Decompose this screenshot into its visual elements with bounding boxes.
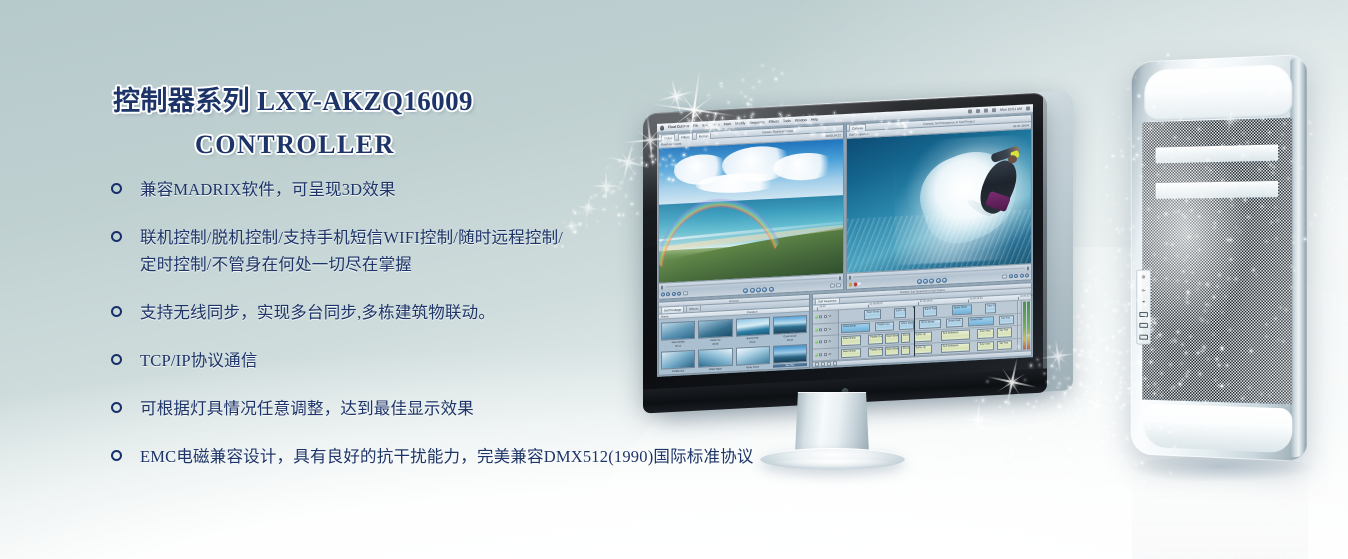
- timeline-clip[interactable]: Sky Pan: [999, 315, 1014, 325]
- sparkle-dot: [936, 544, 938, 546]
- volume-icon[interactable]: [992, 108, 996, 112]
- sparkle-dot: [1098, 440, 1099, 441]
- viewer-timecode[interactable]: 00:00:14:12: [825, 133, 841, 138]
- track-lanes[interactable]: Wave BreakSurfer UpBarrel RideSpray Clos…: [839, 301, 1021, 361]
- sparkle-dot: [1013, 415, 1015, 417]
- track-layout-button[interactable]: [821, 362, 825, 366]
- list-item[interactable]: Surfer Up00:09: [698, 319, 732, 347]
- sparkle-dot: [1104, 338, 1106, 340]
- sparkle-dot: [1007, 502, 1009, 504]
- sparkle-dot: [1120, 381, 1121, 382]
- sparkle-dot: [1102, 441, 1104, 443]
- bluetooth-icon[interactable]: [968, 109, 972, 113]
- scrubber-handle[interactable]: [1027, 266, 1029, 270]
- timeline-clip[interactable]: Shore Break: [919, 318, 941, 329]
- browser-clip-grid[interactable]: Wave Break00:12Surfer Up00:09Barrel Ride…: [659, 312, 809, 375]
- ruler-tick: [868, 305, 869, 308]
- sparkle-dot: [1094, 439, 1095, 440]
- firewire-port-icon[interactable]: [1139, 323, 1148, 328]
- canvas-timecode[interactable]: 01:01:18:04: [1013, 123, 1029, 128]
- sparkle-dot: [1113, 113, 1114, 114]
- sparkle-dot: [1088, 402, 1089, 403]
- canvas-extra-controls[interactable]: [1002, 273, 1029, 278]
- sparkle-dot: [1115, 284, 1116, 285]
- product-banner: 控制器系列 LXY-AKZQ16009 CONTROLLER 兼容MADRIX软…: [0, 0, 1348, 559]
- sparkle-dot: [1013, 496, 1014, 497]
- timeline-clip[interactable]: Sunset Surf: [968, 316, 993, 327]
- headphone-icon: ⌖: [1142, 300, 1145, 306]
- menubar-clock[interactable]: Mon 10:51 AM: [1000, 107, 1022, 112]
- browser-window[interactable]: Browser Surf Footage Effects Name Durati…: [658, 294, 810, 376]
- timeline-clip[interactable]: Wave Break: [864, 309, 880, 319]
- timeline-clip[interactable]: Barrel Ride: [923, 306, 938, 316]
- linked-selection-button[interactable]: [827, 362, 831, 366]
- menu-item-modify[interactable]: Modify: [735, 121, 745, 126]
- sparkle-dot: [1110, 378, 1112, 380]
- sparkle-dot: [976, 462, 977, 463]
- previous-edit-icon[interactable]: [743, 288, 748, 293]
- replace-edit-icon[interactable]: [858, 283, 861, 286]
- transport-controls[interactable]: [743, 286, 774, 293]
- sparkle-dot: [1114, 309, 1115, 310]
- tower-bottom-handle: [1144, 404, 1292, 454]
- sparkle-dot: [953, 547, 955, 549]
- sparkle-glint: [957, 399, 1000, 442]
- clip-thumbnail[interactable]: [661, 350, 695, 370]
- track-header-column[interactable]: V2V1A1A2: [813, 310, 839, 361]
- track-auto-select-icon[interactable]: [824, 352, 827, 356]
- sparkle-dot: [1122, 156, 1123, 157]
- sparkle-dot: [1096, 360, 1098, 362]
- timeline-clip[interactable]: Wave Break: [885, 333, 900, 343]
- next-edit-icon[interactable]: [942, 277, 947, 282]
- sparkle-dot: [969, 460, 971, 462]
- sparkle-dot: [1107, 363, 1108, 364]
- timeline-clip[interactable]: Tube View: [985, 303, 996, 313]
- tower-side-edge: [1290, 58, 1306, 458]
- timeline-clip[interactable]: Wave Break: [885, 346, 900, 356]
- apple-logo-icon[interactable]: [660, 125, 664, 130]
- timeline-clip[interactable]: Tube View: [977, 341, 993, 351]
- sparkle-dot: [1030, 471, 1032, 473]
- sparkle-dot: [1036, 440, 1038, 442]
- sparkle-dot: [1101, 340, 1102, 341]
- sparkle-dot: [984, 485, 985, 486]
- play-icon[interactable]: [672, 292, 676, 296]
- sparkle-dot: [1126, 435, 1127, 436]
- clip-thumbnail[interactable]: [773, 344, 807, 364]
- timeline-clip[interactable]: Surfer Up: [914, 331, 932, 341]
- mark-clip-icon[interactable]: [1025, 273, 1029, 277]
- sparkle-dot: [995, 548, 996, 549]
- sparkle-dot: [1090, 498, 1091, 499]
- track-auto-select-icon[interactable]: [824, 327, 827, 331]
- sparkle-dot: [1119, 352, 1121, 354]
- sparkle-dot: [1034, 511, 1036, 513]
- sparkle-dot: [1108, 432, 1109, 433]
- column-header-name[interactable]: Name: [661, 314, 668, 318]
- track-lock-icon[interactable]: [819, 353, 822, 357]
- list-item[interactable]: Barrel Ride00:21: [736, 317, 770, 345]
- timemachine-icon[interactable]: [976, 109, 980, 113]
- sparkle-dot: [1080, 382, 1081, 383]
- sparkle-dot: [1106, 347, 1108, 349]
- aerial-coast-with-rainbow-image: [659, 139, 843, 283]
- edit-mode-indicators[interactable]: [849, 283, 861, 287]
- sparkle-dot: [1103, 478, 1104, 479]
- sparkle-dot: [1092, 350, 1093, 351]
- sparkle-dot: [978, 438, 980, 440]
- sparkle-dot: [1000, 474, 1002, 476]
- tower-top-handle: [1144, 64, 1292, 122]
- tower-front-port-panel[interactable]: ✲ ⟜ ⌖: [1137, 270, 1151, 345]
- sparkle-dot: [1063, 460, 1065, 462]
- play-in-to-out-icon[interactable]: [923, 278, 928, 283]
- viewer-row: Video Filters Motion Viewer: Rainbow Coa…: [657, 113, 1033, 301]
- sparkle-dot: [1114, 423, 1115, 424]
- sparkle-dot: [1019, 463, 1020, 464]
- sparkle-dot: [1076, 414, 1078, 416]
- sparkle-dot: [1110, 400, 1111, 401]
- menu-item-file[interactable]: File: [693, 124, 698, 128]
- sparkle-dot: [984, 490, 986, 492]
- sparkle-dot: [1093, 345, 1094, 346]
- track-visibility-icon[interactable]: [815, 341, 818, 344]
- sparkle-dot: [1089, 369, 1090, 370]
- clip-thumbnail[interactable]: [736, 317, 770, 337]
- add-marker-icon[interactable]: [1009, 274, 1013, 278]
- display-stand-base: [760, 448, 905, 470]
- sparkle-dot: [1107, 138, 1108, 139]
- sparkle-dot: [1095, 279, 1097, 281]
- sparkle-dot: [970, 492, 971, 493]
- timeline-clip[interactable]: White Water: [899, 320, 914, 330]
- track-visibility-icon[interactable]: [815, 316, 818, 319]
- spotlight-icon[interactable]: [1026, 106, 1030, 110]
- timeline-clip[interactable]: Spray Close: [952, 304, 972, 315]
- add-marker-icon[interactable]: [836, 283, 841, 287]
- previous-edit-icon[interactable]: [661, 292, 665, 296]
- snapping-button[interactable]: [833, 362, 837, 366]
- sparkle-dot: [1058, 405, 1060, 407]
- clip-duration-label: 00:18: [773, 338, 807, 343]
- menu-item-sequence[interactable]: Sequence: [749, 120, 764, 125]
- sparkle-dot: [1113, 350, 1115, 352]
- list-item[interactable]: Sky Pan00:24: [773, 344, 807, 372]
- sparkle-dot: [1098, 359, 1099, 360]
- clip-thumbnail[interactable]: [698, 348, 732, 368]
- timeline-clip[interactable]: Tube View: [977, 328, 993, 338]
- sparkle-dot: [942, 477, 944, 479]
- marker-controls[interactable]: [830, 283, 841, 288]
- sparkle-dot: [1112, 155, 1114, 157]
- sparkle-dot: [994, 439, 996, 441]
- sparkle-dot: [1092, 449, 1093, 450]
- sparkle-dot: [1064, 392, 1066, 394]
- list-item-label: EMC电磁兼容设计，具有良好的抗干扰能力，完美兼容DMX512(1990)国际标…: [140, 445, 868, 468]
- menu-item-window[interactable]: Window: [795, 118, 807, 123]
- sparkle-dot: [1123, 327, 1125, 329]
- play-icon[interactable]: [756, 287, 761, 292]
- match-frame-icon[interactable]: [1002, 274, 1007, 278]
- sparkle-dot: [909, 483, 910, 484]
- tab-surf-footage[interactable]: Surf Footage: [661, 305, 684, 313]
- sparkle-dot: [949, 462, 950, 463]
- timeline-clip[interactable]: 00:12: [901, 345, 910, 355]
- sparkle-dot: [1097, 286, 1098, 287]
- sparkle-dot: [1094, 349, 1095, 350]
- sparkle-dot: [1021, 532, 1022, 533]
- usb-icon: ⟜: [1142, 287, 1146, 293]
- sparkle-dot: [1114, 471, 1116, 473]
- list-item[interactable]: Coast Aerial00:18: [773, 315, 807, 343]
- sparkle-dot: [996, 517, 998, 519]
- track-auto-select-icon[interactable]: [824, 340, 827, 344]
- viewer-clip-name: Rainbow Coast: [661, 142, 681, 147]
- sparkle-dot: [1106, 352, 1107, 353]
- sparkle-dot: [1091, 400, 1092, 401]
- sparkle-dot: [1011, 451, 1013, 453]
- tab-effects[interactable]: Effects: [686, 305, 701, 313]
- timeline-clip[interactable]: Surf Ambience: [941, 329, 970, 340]
- sparkle-dot: [1119, 117, 1120, 118]
- sparkle-dot: [1071, 428, 1072, 429]
- list-item[interactable]: Spray Close00:11: [736, 346, 770, 374]
- sparkle-dot: [1111, 426, 1112, 427]
- track-lock-icon[interactable]: [819, 315, 822, 319]
- sparkle-dot: [997, 510, 999, 512]
- timeline-window[interactable]: Timeline: Surf Sequence in Surf Project …: [812, 282, 1032, 368]
- sparkle-dot: [1106, 194, 1108, 196]
- sparkle-dot: [1112, 423, 1113, 424]
- sparkle-dot: [1089, 337, 1091, 339]
- sparkle-dot: [982, 481, 983, 482]
- sparkle-dot: [1000, 530, 1001, 531]
- sparkle-dot: [1123, 333, 1125, 335]
- sparkle-dot: [1089, 271, 1090, 272]
- sparkle-dot: [1055, 496, 1057, 498]
- track-height-button[interactable]: [815, 363, 819, 367]
- sparkle-dot: [1121, 150, 1122, 151]
- scrubber-handle[interactable]: [849, 276, 851, 280]
- timeline-clip[interactable]: Surfer Up: [914, 344, 932, 354]
- track-visibility-icon[interactable]: [815, 328, 818, 331]
- timeline-clip[interactable]: Paddle Out: [875, 321, 893, 331]
- display-screen[interactable]: Final Cut Pro File Edit View Mark Modify…: [657, 104, 1033, 377]
- timeline-clip[interactable]: 00:12: [901, 333, 910, 343]
- play-icon[interactable]: [929, 278, 934, 283]
- sparkle-dot: [1121, 315, 1122, 316]
- sparkle-dot: [1091, 432, 1092, 433]
- product-title-main: 控制器系列 LXY-AKZQ16009: [113, 84, 733, 118]
- track-name-label: A1: [828, 340, 831, 343]
- play-around-icon[interactable]: [936, 277, 941, 282]
- timeline-clip[interactable]: Surfer Up: [894, 308, 907, 318]
- sparkle-dot: [1023, 480, 1024, 481]
- clip-duration-label: 00:12: [661, 344, 695, 349]
- sparkle-dot: [1020, 508, 1021, 509]
- previous-edit-icon[interactable]: [917, 278, 922, 283]
- sparkle-dot: [1110, 220, 1111, 221]
- menu-item-app[interactable]: Final Cut Pro: [668, 124, 689, 129]
- sparkle-dot: [1008, 460, 1010, 462]
- menu-item-help[interactable]: Help: [811, 117, 818, 121]
- sparkle-dot: [1110, 412, 1112, 414]
- sparkle-dot: [1064, 459, 1065, 460]
- menu-item-mark[interactable]: Mark: [724, 122, 732, 126]
- sparkle-dot: [1120, 455, 1122, 457]
- sparkle-dot: [1125, 382, 1126, 383]
- list-item[interactable]: White Water00:15: [698, 348, 732, 375]
- timeline-playhead[interactable]: [914, 306, 915, 356]
- sparkle-dot: [1106, 166, 1108, 168]
- sparkle-dot: [1055, 470, 1056, 471]
- clip-thumbnail[interactable]: [698, 319, 732, 339]
- viewer-window[interactable]: Video Filters Motion Viewer: Rainbow Coa…: [658, 124, 844, 300]
- track-auto-select-icon[interactable]: [824, 315, 827, 319]
- sparkle-dot: [953, 547, 954, 548]
- sparkle-dot: [941, 468, 943, 470]
- sparkle-dot: [1092, 357, 1093, 358]
- canvas-window[interactable]: Canvas Canvas: Surf Sequence in Surf Pro…: [846, 114, 1032, 290]
- menu-item-edit[interactable]: Edit: [702, 123, 708, 127]
- play-in-to-out-icon[interactable]: [666, 292, 670, 296]
- sparkle-dot: [1120, 274, 1122, 276]
- sparkle-dot: [1088, 386, 1090, 388]
- sparkle-dot: [1033, 457, 1034, 458]
- sparkle-dot: [1167, 54, 1169, 56]
- sparkle-dot: [1081, 337, 1083, 339]
- timeline-clip[interactable]: Board Walk: [946, 317, 962, 327]
- viewer-canvas[interactable]: [659, 139, 843, 283]
- timeline-clip[interactable]: Sky Pan: [997, 340, 1012, 350]
- sparkle-dot: [1123, 304, 1125, 306]
- ruler-label: 01:00:08:00: [870, 302, 883, 306]
- timeline-clip[interactable]: Coast Aerial: [841, 322, 870, 333]
- sparkle-dot: [948, 517, 949, 518]
- clip-thumbnail[interactable]: [661, 321, 695, 341]
- timeline-clip[interactable]: Paddle Out: [868, 334, 883, 344]
- sparkle-dot: [1094, 359, 1095, 360]
- mark-in-icon[interactable]: [1014, 274, 1018, 278]
- sparkle-dot: [1120, 407, 1122, 409]
- sparkle-dot: [1092, 400, 1094, 402]
- sparkle-dot: [970, 480, 972, 482]
- track-visibility-icon[interactable]: [815, 353, 818, 356]
- sparkle-dot: [1093, 417, 1095, 419]
- sparkle-dot: [1079, 329, 1080, 330]
- track-lock-icon[interactable]: [819, 328, 822, 332]
- play-around-icon[interactable]: [762, 287, 767, 292]
- play-in-to-out-icon[interactable]: [750, 287, 755, 292]
- list-item: EMC电磁兼容设计，具有良好的抗干扰能力，完美兼容DMX512(1990)国际标…: [108, 445, 868, 468]
- track-lock-icon[interactable]: [819, 340, 822, 344]
- sparkle-dot: [1098, 472, 1099, 473]
- column-header-duration[interactable]: Duration: [747, 310, 758, 315]
- clip-duration-label: 00:09: [698, 342, 732, 347]
- usb-port-icon[interactable]: [1139, 312, 1148, 317]
- scrubber-handle[interactable]: [661, 286, 663, 290]
- sparkle-dot: [1059, 524, 1060, 525]
- scrubber-handle[interactable]: [839, 276, 841, 280]
- sparkle-dot: [1044, 475, 1046, 477]
- clip-thumbnail[interactable]: [736, 346, 770, 366]
- play-around-icon[interactable]: [677, 292, 681, 296]
- sparkle-dot: [1046, 456, 1048, 458]
- timeline-clip[interactable]: Wave Break: [841, 348, 861, 359]
- sparkle-dot: [1025, 489, 1027, 491]
- sparkle-dot: [980, 472, 981, 473]
- airport-icon[interactable]: [984, 108, 988, 112]
- sparkle-dot: [1021, 447, 1023, 449]
- match-frame-icon[interactable]: [830, 284, 835, 288]
- list-item[interactable]: Paddle Out00:07: [661, 350, 695, 375]
- sparkle-dot: [959, 470, 960, 471]
- audio-meters: [1021, 300, 1031, 351]
- sparkle-dot: [1096, 488, 1098, 490]
- timeline-clip[interactable]: Wave Break: [841, 335, 861, 346]
- sparkle-dot: [1112, 198, 1114, 200]
- transport-controls[interactable]: [917, 277, 948, 284]
- list-item[interactable]: Wave Break00:12: [661, 321, 695, 349]
- sparkle-dot: [1084, 394, 1085, 395]
- jog-wheel-icon[interactable]: [683, 291, 688, 295]
- sparkle-dot: [1094, 428, 1096, 430]
- track-name-label: V2: [828, 315, 831, 318]
- sparkle-dot: [1027, 504, 1028, 505]
- insert-edit-icon[interactable]: [849, 283, 852, 286]
- sparkle-dot: [1015, 461, 1016, 462]
- canvas-video-area[interactable]: [847, 129, 1031, 273]
- sparkle-dot: [1077, 402, 1079, 404]
- ruler-tick: [918, 302, 919, 305]
- timeline-clip[interactable]: Sky Pan: [997, 327, 1012, 337]
- sparkle-dot: [1033, 406, 1035, 408]
- timeline-clip[interactable]: Paddle Out: [868, 347, 883, 357]
- overwrite-edit-icon[interactable]: [854, 283, 857, 286]
- sparkle-dot: [1101, 370, 1103, 372]
- clip-thumbnail[interactable]: [773, 315, 807, 335]
- menu-item-effects[interactable]: Effects: [769, 119, 779, 124]
- next-edit-icon[interactable]: [769, 286, 774, 291]
- menu-item-tools[interactable]: Tools: [783, 119, 791, 123]
- jog-controls[interactable]: [661, 291, 688, 296]
- sparkle-dot: [1081, 350, 1083, 352]
- timeline-clip[interactable]: Surf Ambience: [941, 342, 970, 353]
- ethernet-port-icon[interactable]: [1139, 334, 1148, 339]
- mark-out-icon[interactable]: [1020, 274, 1024, 278]
- sparkle-dot: [1107, 300, 1108, 301]
- menu-item-view[interactable]: View: [712, 123, 719, 127]
- sparkle-dot: [1112, 336, 1114, 338]
- sparkle-glint: [1077, 385, 1115, 423]
- sparkle-dot: [1095, 324, 1096, 325]
- sparkle-dot: [1086, 289, 1088, 291]
- sparkle-dot: [1076, 399, 1077, 400]
- sparkle-dot: [923, 485, 925, 487]
- audio-meter-right: [1027, 301, 1030, 349]
- sparkle-dot: [1108, 398, 1109, 399]
- sparkle-dot: [1120, 387, 1121, 388]
- sparkle-dot: [1099, 445, 1100, 446]
- sparkle-dot: [1089, 286, 1090, 287]
- sparkle-dot: [1051, 455, 1052, 456]
- sparkle-dot: [1100, 381, 1102, 383]
- sparkle-dot: [1110, 391, 1111, 392]
- sparkle-dot: [916, 527, 918, 529]
- sparkle-dot: [979, 440, 980, 441]
- sparkle-dot: [1114, 310, 1116, 312]
